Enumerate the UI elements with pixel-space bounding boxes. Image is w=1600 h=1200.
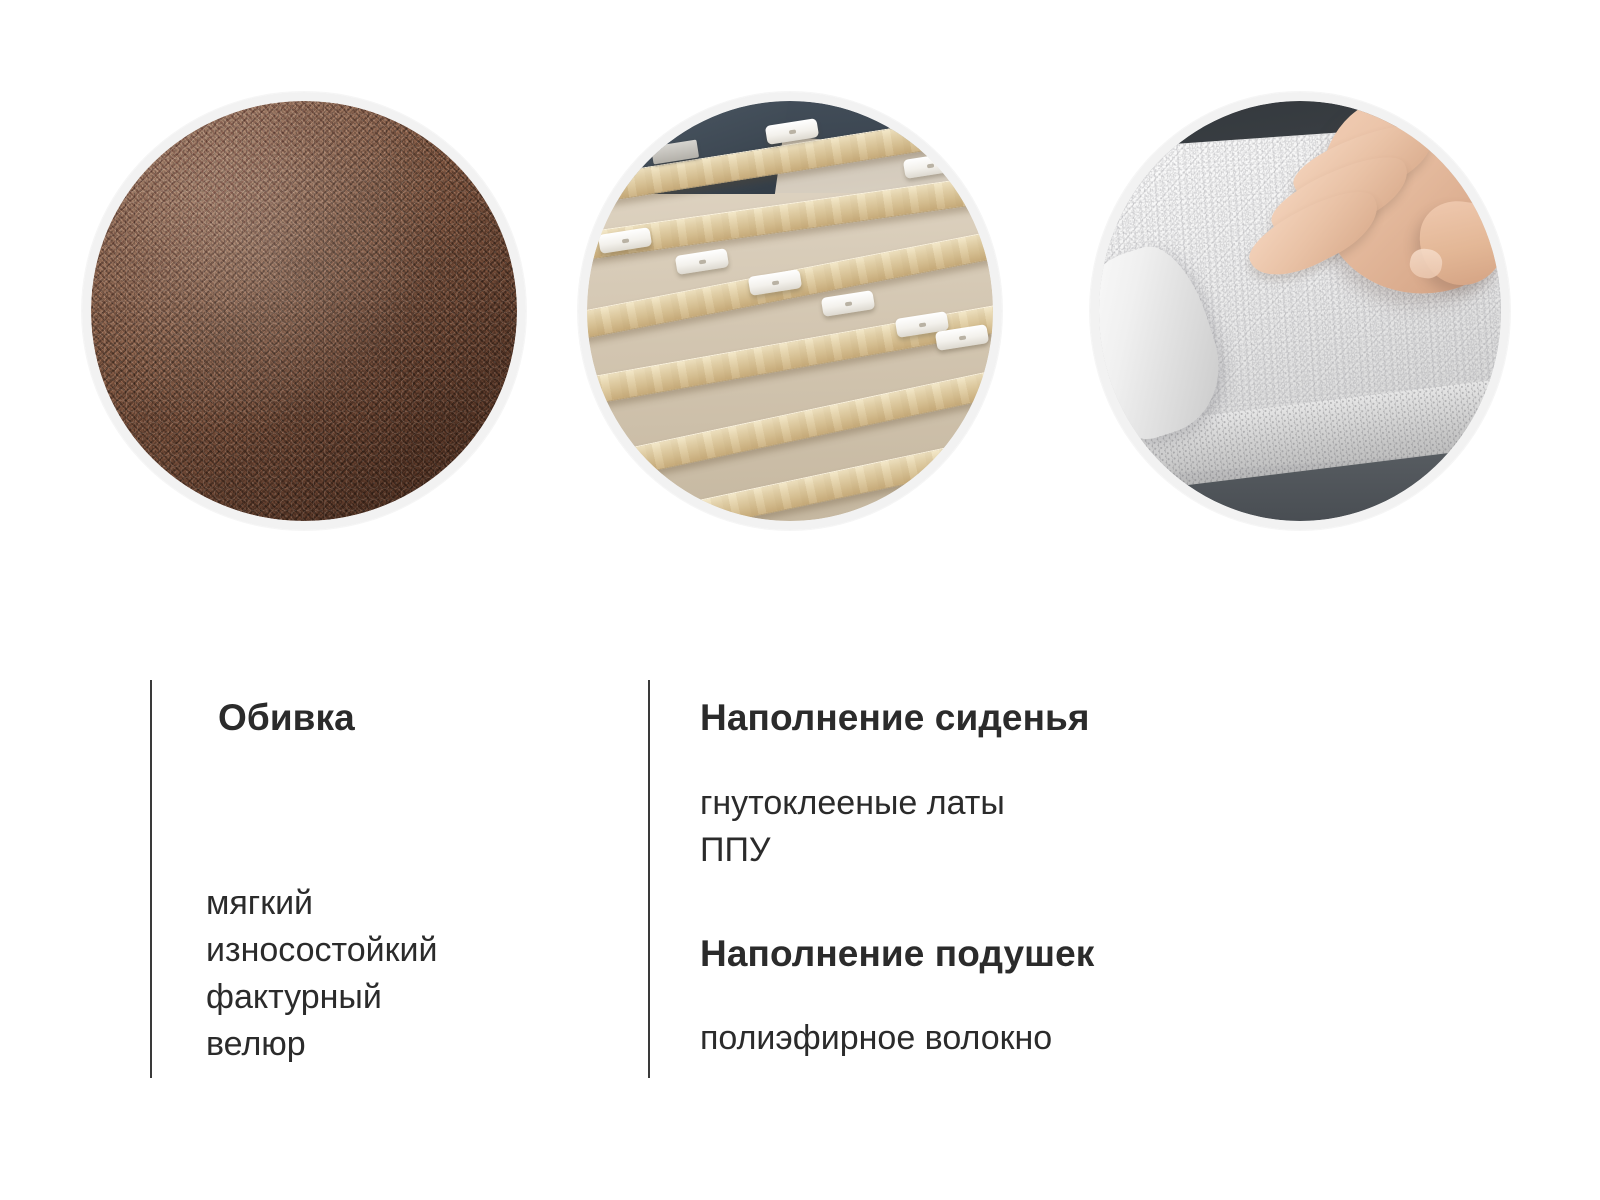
hand-icon — [1228, 101, 1501, 353]
slats-photo-circle — [578, 92, 1002, 530]
filling-column: Наполнение сиденья гнутоклееные латы ППУ… — [648, 680, 1168, 1078]
fabric-swatch-circle — [82, 92, 526, 530]
upholstery-properties: мягкий износостойкий фактурный велюр — [206, 880, 438, 1068]
filling-vertical-rule — [648, 680, 650, 1078]
foam-photo-image — [1099, 101, 1501, 521]
slats-scene-background — [587, 101, 993, 521]
fabric-vignette — [91, 101, 517, 521]
slats-photo-image — [587, 101, 993, 521]
pillow-filling-title: Наполнение подушек — [700, 933, 1094, 975]
fabric-swatch-image — [91, 101, 517, 521]
upholstery-column: Обивка мягкий износостойкий фактурный ве… — [150, 680, 620, 1078]
foam-photo-circle — [1090, 92, 1510, 530]
upholstery-vertical-rule — [150, 680, 152, 1078]
seat-filling-properties: гнутоклееные латы ППУ — [700, 780, 1005, 874]
upholstery-title: Обивка — [218, 697, 355, 739]
slat-holder-clip — [903, 152, 957, 179]
infographic-page: Обивка мягкий износостойкий фактурный ве… — [0, 0, 1600, 1200]
foam-scene-background — [1099, 101, 1501, 521]
seat-filling-title: Наполнение сиденья — [700, 697, 1090, 739]
pillow-filling-properties: полиэфирное волокно — [700, 1015, 1052, 1062]
